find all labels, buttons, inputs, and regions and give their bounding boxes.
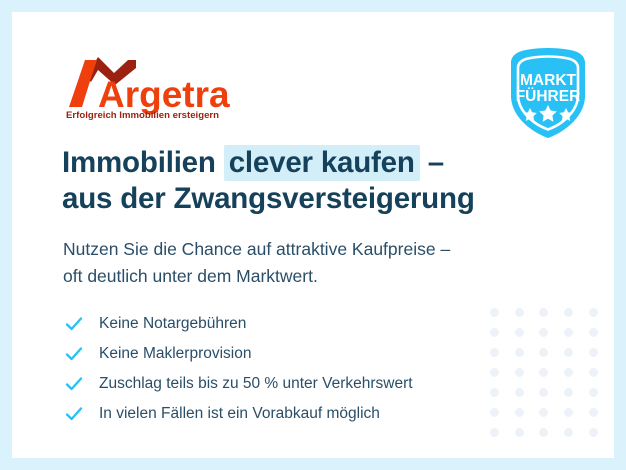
argetra-logo[interactable]: Argetra Erfolgreich Immobilien ersteiger… [64, 50, 264, 120]
subheadline: Nutzen Sie die Chance auf attraktive Kau… [63, 236, 583, 290]
banner-card: Argetra Erfolgreich Immobilien ersteiger… [12, 12, 614, 458]
markt-fuehrer-badge: MARKT FÜHRER [499, 44, 597, 142]
subheadline-line-1: Nutzen Sie die Chance auf attraktive Kau… [63, 236, 583, 263]
promo-banner: Argetra Erfolgreich Immobilien ersteiger… [0, 0, 626, 470]
list-item-label: Keine Maklerprovision [99, 344, 252, 364]
logo-wordmark: Argetra [98, 74, 230, 115]
dot [564, 308, 573, 317]
check-icon [63, 313, 85, 335]
check-icon [63, 403, 85, 425]
list-item-label: Zuschlag teils bis zu 50 % unter Verkehr… [99, 374, 413, 394]
check-icon [63, 343, 85, 365]
dot [539, 408, 548, 417]
dot [564, 328, 573, 337]
headline-line-1: Immobilien clever kaufen – [62, 145, 582, 181]
check-icon [63, 373, 85, 395]
list-item: In vielen Fällen ist ein Vorabkauf mögli… [63, 399, 533, 429]
page-title: Immobilien clever kaufen – aus der Zwang… [62, 145, 582, 217]
dot [539, 308, 548, 317]
headline-highlight: clever kaufen [224, 145, 420, 181]
dot [564, 408, 573, 417]
dot [589, 328, 598, 337]
benefits-list: Keine Notargebühren Keine Maklerprovisio… [63, 309, 533, 429]
list-item-label: Keine Notargebühren [99, 314, 246, 334]
dot [539, 428, 548, 437]
dot [539, 348, 548, 357]
headline-prefix: Immobilien [62, 146, 224, 179]
dot [589, 428, 598, 437]
dot [539, 388, 548, 397]
list-item: Keine Notargebühren [63, 309, 533, 339]
list-item: Keine Maklerprovision [63, 339, 533, 369]
list-item: Zuschlag teils bis zu 50 % unter Verkehr… [63, 369, 533, 399]
dot [564, 428, 573, 437]
headline-line-2: aus der Zwangsversteigerung [62, 181, 582, 217]
dot [564, 388, 573, 397]
logo-tagline: Erfolgreich Immobilien ersteigern [66, 110, 219, 120]
dot [589, 388, 598, 397]
headline-suffix: – [420, 146, 444, 179]
dot [589, 348, 598, 357]
badge-line2: FÜHRER [516, 88, 581, 105]
dot [564, 368, 573, 377]
dot [539, 328, 548, 337]
dot [589, 408, 598, 417]
dot [589, 368, 598, 377]
list-item-label: In vielen Fällen ist ein Vorabkauf mögli… [99, 404, 380, 424]
dot [589, 308, 598, 317]
dot [564, 348, 573, 357]
badge-line1: MARKT [520, 72, 576, 89]
dot [539, 368, 548, 377]
subheadline-line-2: oft deutlich unter dem Marktwert. [63, 263, 583, 290]
